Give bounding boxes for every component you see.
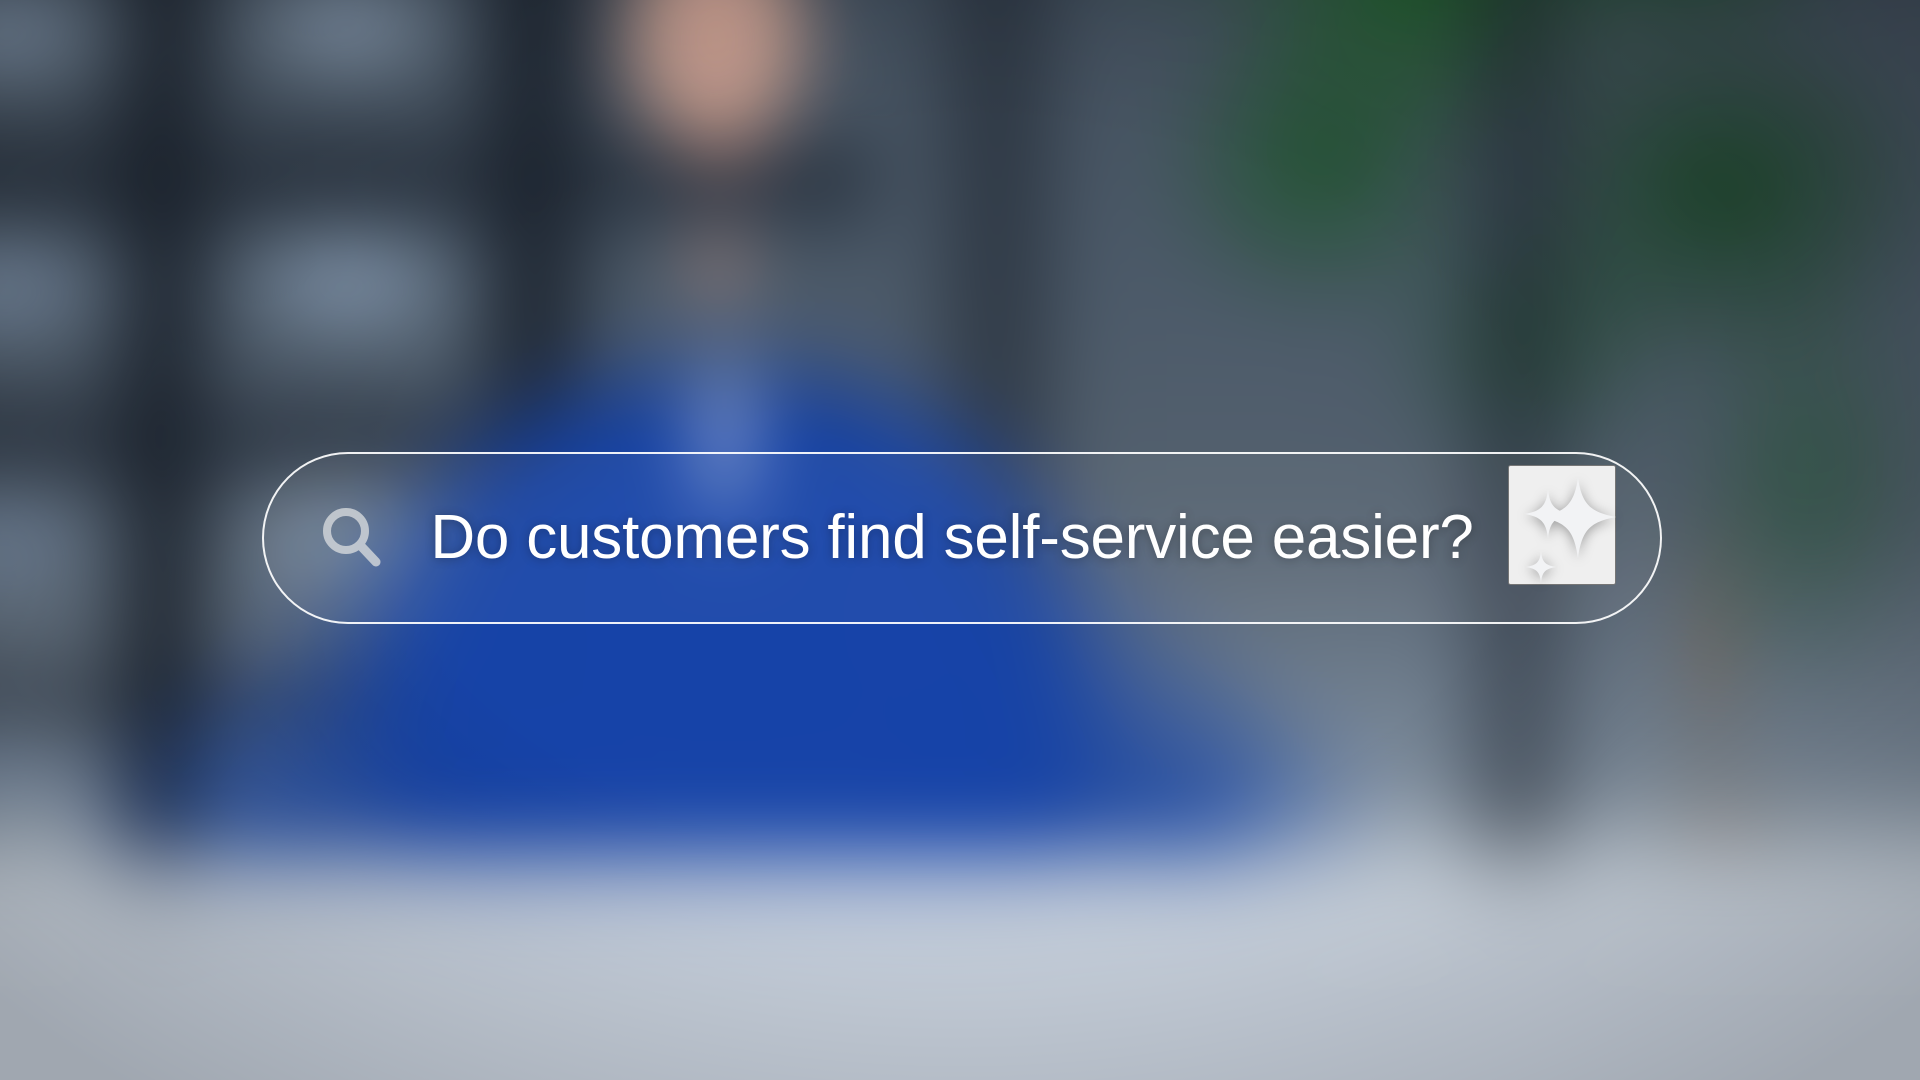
search-bar[interactable]: Do customers find self-service easier? A… [262,452,1662,624]
search-icon [316,502,388,574]
ai-sparkle-icon [1516,468,1624,588]
ai-sparkle-button[interactable]: AI assist [1508,465,1616,585]
search-query-text[interactable]: Do customers find self-service easier? [414,507,1500,569]
screen: Do customers find self-service easier? A… [0,0,1920,1080]
